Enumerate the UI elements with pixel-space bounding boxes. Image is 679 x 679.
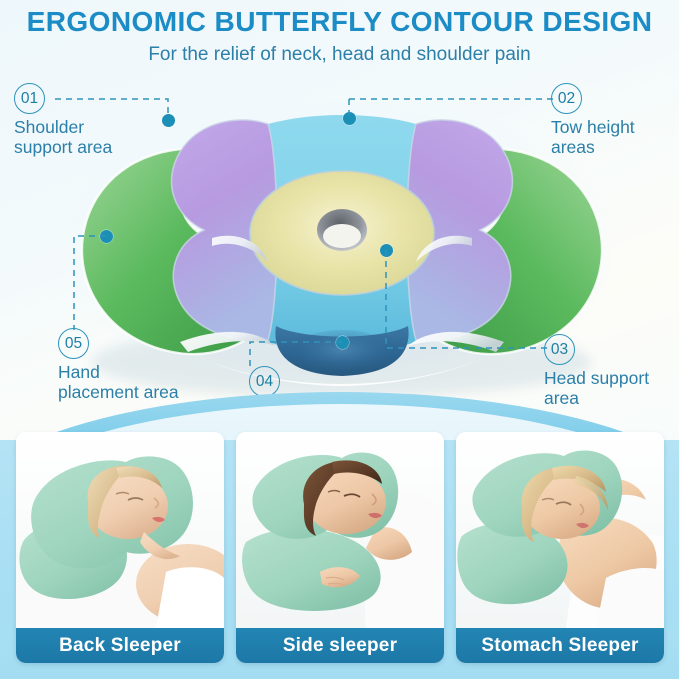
- card-caption-stomach-sleeper: Stomach Sleeper: [456, 628, 664, 663]
- callout-05-label: Hand placement area: [58, 362, 179, 402]
- card-back-sleeper[interactable]: Back Sleeper: [16, 432, 224, 663]
- page-title: ERGONOMIC BUTTERFLY CONTOUR DESIGN: [0, 6, 679, 38]
- card-caption-side-sleeper: Side sleeper: [236, 628, 444, 663]
- photo-stomach-sleeper: [456, 432, 664, 628]
- callout-01: 01 Shoulder support area: [14, 83, 112, 157]
- sleeper-cards: Back Sleeper: [0, 432, 679, 679]
- infographic-page: ERGONOMIC BUTTERFLY CONTOUR DESIGN For t…: [0, 0, 679, 679]
- callout-03-label: Head support area: [544, 368, 649, 408]
- card-side-sleeper[interactable]: Side sleeper: [236, 432, 444, 663]
- page-subtitle: For the relief of neck, head and shoulde…: [0, 44, 679, 66]
- callout-02-label: Tow height areas: [551, 117, 635, 157]
- photo-side-sleeper: [236, 432, 444, 628]
- callout-03-badge: 03: [544, 334, 575, 365]
- callout-05-badge: 05: [58, 328, 89, 359]
- callout-05: 05 Hand placement area: [58, 328, 179, 402]
- callout-01-badge: 01: [14, 83, 45, 114]
- callout-02-badge: 02: [551, 83, 582, 114]
- callout-03: 03 Head support area: [544, 334, 649, 408]
- callout-01-label: Shoulder support area: [14, 117, 112, 157]
- card-stomach-sleeper[interactable]: Stomach Sleeper: [456, 432, 664, 663]
- callout-02: 02 Tow height areas: [551, 83, 635, 157]
- photo-back-sleeper: [16, 432, 224, 628]
- card-caption-back-sleeper: Back Sleeper: [16, 628, 224, 663]
- pillow-diagram-scene: 01 Shoulder support area 02 Tow height a…: [0, 72, 679, 422]
- callout-04-badge: 04: [249, 366, 280, 397]
